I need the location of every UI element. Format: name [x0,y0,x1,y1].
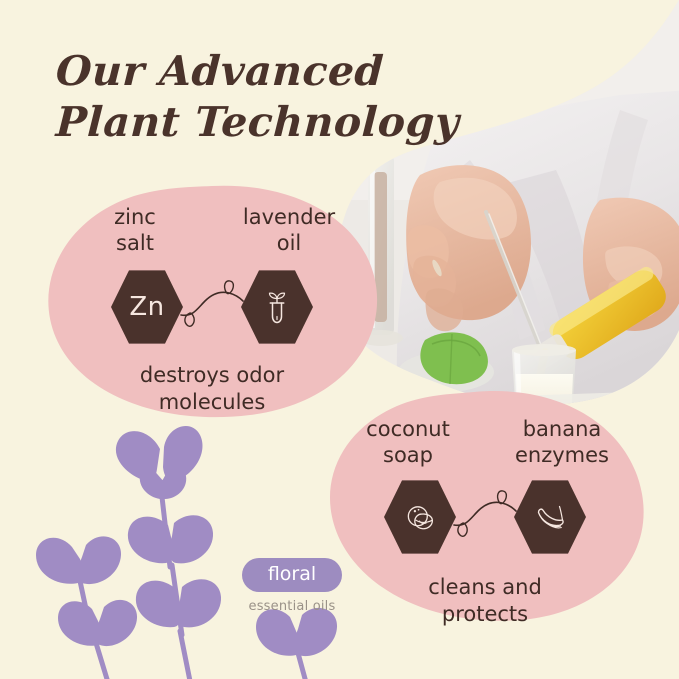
label-banana-enzymes-line1: banana [523,417,602,441]
clean-pair-labels: coconut soap banana enzymes [324,416,646,468]
label-zinc-salt: zinc salt [71,204,199,256]
clean-caption: cleans and protects [428,574,542,628]
odor-molecule-row: Zn [111,268,313,346]
label-banana-enzymes-line2: enzymes [498,442,626,468]
label-coconut-soap-line2: soap [344,442,472,468]
clean-caption-line1: cleans and [428,575,542,599]
label-zinc-salt-line2: salt [71,230,199,256]
label-lavender-oil-line2: oil [225,230,353,256]
label-zinc-salt-line1: zinc [114,205,156,229]
floral-badge-group: floral essential oils [222,558,362,614]
odor-pair-labels: zinc salt lavender oil [44,204,380,256]
test-tube-sprout-icon [241,268,313,346]
label-coconut-soap-line1: coconut [366,417,450,441]
coconut-glyph [404,501,436,533]
odor-caption-line1: destroys odor [140,363,284,387]
label-coconut-soap: coconut soap [344,416,472,468]
odor-blob: zinc salt lavender oil Zn [44,184,380,418]
clean-molecule-row [384,478,586,556]
clean-caption-line2: protects [428,601,542,628]
label-lavender-oil-line1: lavender [243,205,335,229]
clean-blob: coconut soap banana enzymes [324,390,646,622]
banana-hexagon-icon [514,478,586,556]
odor-caption: destroys odor molecules [140,362,284,416]
odor-caption-line2: molecules [140,389,284,416]
vine-bond-icon [179,279,245,335]
badge-sublabel: essential oils [222,599,362,614]
zinc-hexagon-icon: Zn [111,268,183,346]
vine-bond-icon [452,489,518,545]
label-banana-enzymes: banana enzymes [498,416,626,468]
page-title: Our Advanced Plant Technology [56,46,459,148]
test-tube-sprout-glyph [262,291,292,324]
status-badge[interactable]: floral [242,558,342,592]
coconut-hexagon-icon [384,478,456,556]
label-lavender-oil: lavender oil [225,204,353,256]
banana-glyph [534,502,567,532]
title-line-2: Plant Technology [55,97,461,148]
title-line-1: Our Advanced [55,46,461,97]
poster-canvas: Our Advanced Plant Technology [0,0,679,679]
zinc-symbol-label: Zn [129,292,164,322]
